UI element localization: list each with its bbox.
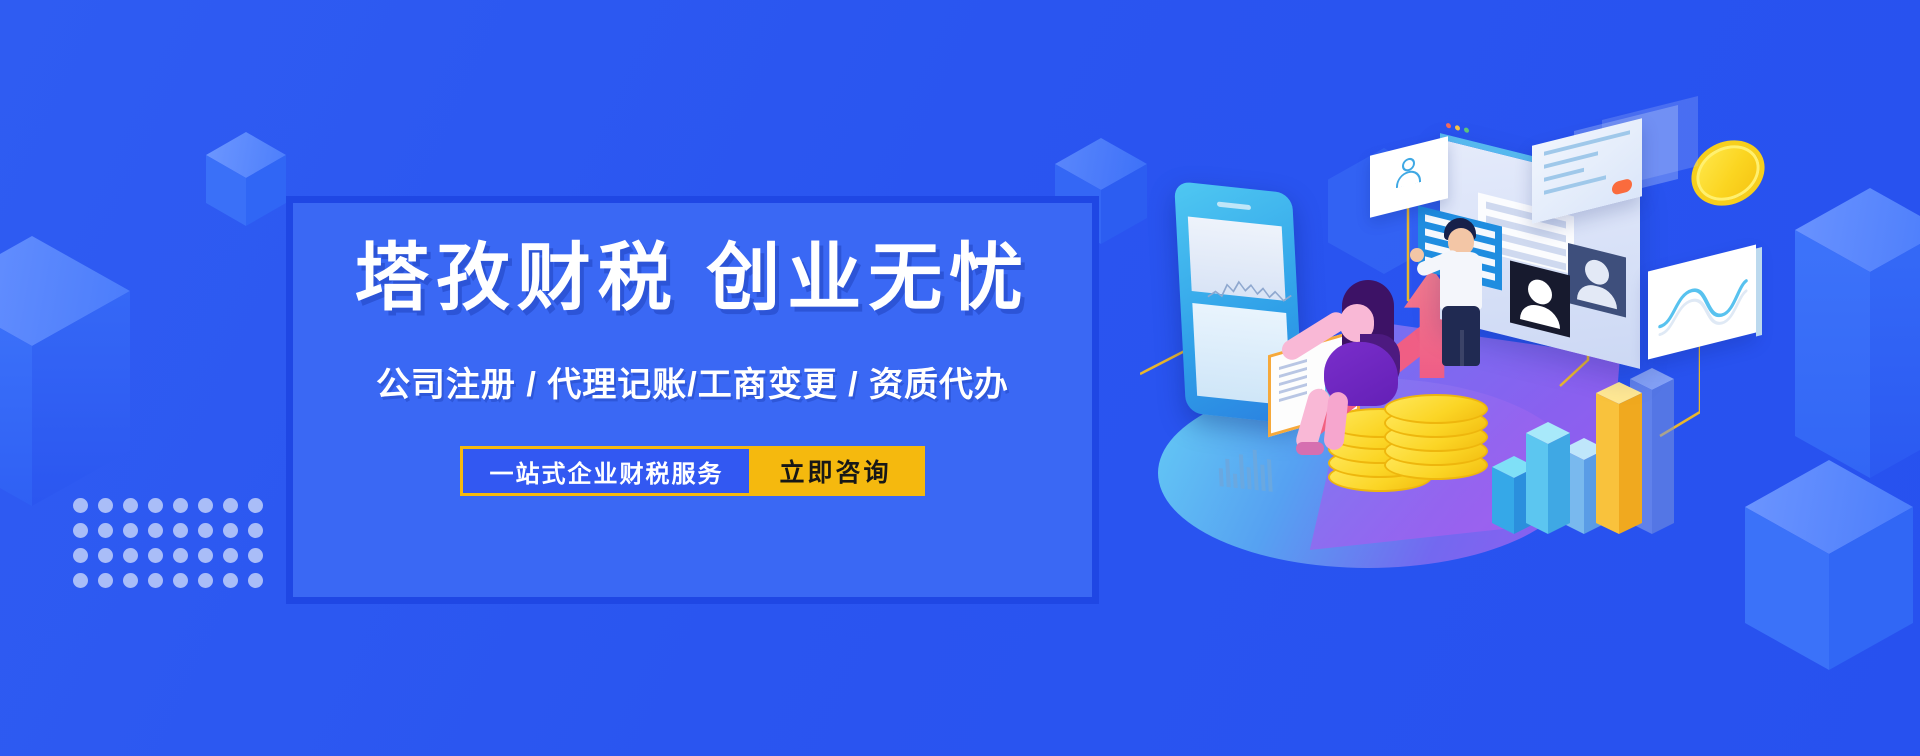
consult-now-button[interactable]: 立即咨询	[749, 449, 921, 493]
banner-root: 塔孜财税 创业无忧 公司注册 / 代理记账/工商变更 / 资质代办 一站式企业财…	[0, 0, 1920, 756]
hero-illustration	[1140, 150, 1700, 570]
page-title: 塔孜财税 创业无忧	[355, 241, 1031, 315]
cta-bar: 一站式企业财税服务 立即咨询	[460, 446, 924, 496]
cube-icon	[1745, 460, 1913, 670]
services-subtitle: 公司注册 / 代理记账/工商变更 / 资质代办	[376, 357, 1009, 406]
bar-chart-icon	[1218, 446, 1273, 492]
woman-figure	[1286, 280, 1426, 450]
man-figure	[1428, 218, 1498, 368]
text-frame: 塔孜财税 创业无忧 公司注册 / 代理记账/工商变更 / 资质代办 一站式企业财…	[286, 196, 1099, 604]
cube-icon	[0, 236, 130, 506]
line-chart-icon	[1654, 256, 1750, 350]
cube-icon	[1795, 188, 1920, 478]
one-stop-service-tag: 一站式企业财税服务	[463, 449, 749, 493]
cube-icon	[206, 132, 286, 226]
dot-grid-icon	[73, 498, 273, 598]
bar-chart-icon	[1492, 368, 1682, 538]
